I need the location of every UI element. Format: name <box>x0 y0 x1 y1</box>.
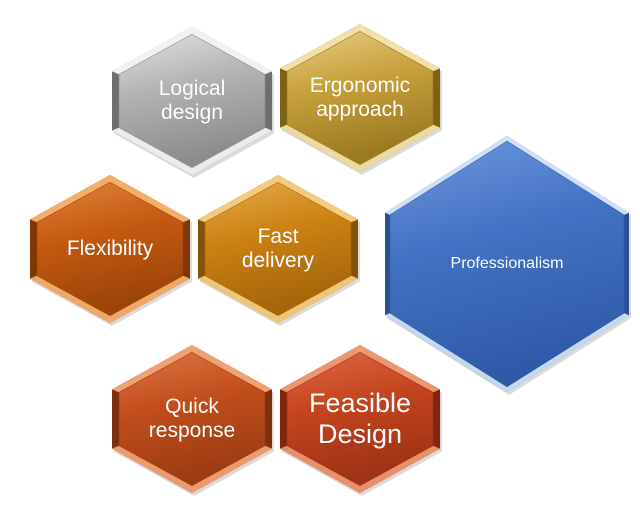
hexagon-flexibility[interactable] <box>30 175 192 326</box>
hexagon-logical-design[interactable] <box>112 27 274 178</box>
diagram-canvas: Logical designErgonomic approachFlexibil… <box>0 0 640 520</box>
hexagon-feasible-design[interactable] <box>280 345 442 496</box>
hexagon-fast-delivery[interactable] <box>198 175 360 326</box>
hexagon-quick-response[interactable] <box>112 345 274 496</box>
hexagon-ergonomic-approach[interactable] <box>280 24 442 175</box>
hexagon-face[interactable] <box>390 141 624 387</box>
hexagon-professionalism[interactable] <box>385 136 631 395</box>
hexagon-cluster-svg <box>0 0 640 520</box>
